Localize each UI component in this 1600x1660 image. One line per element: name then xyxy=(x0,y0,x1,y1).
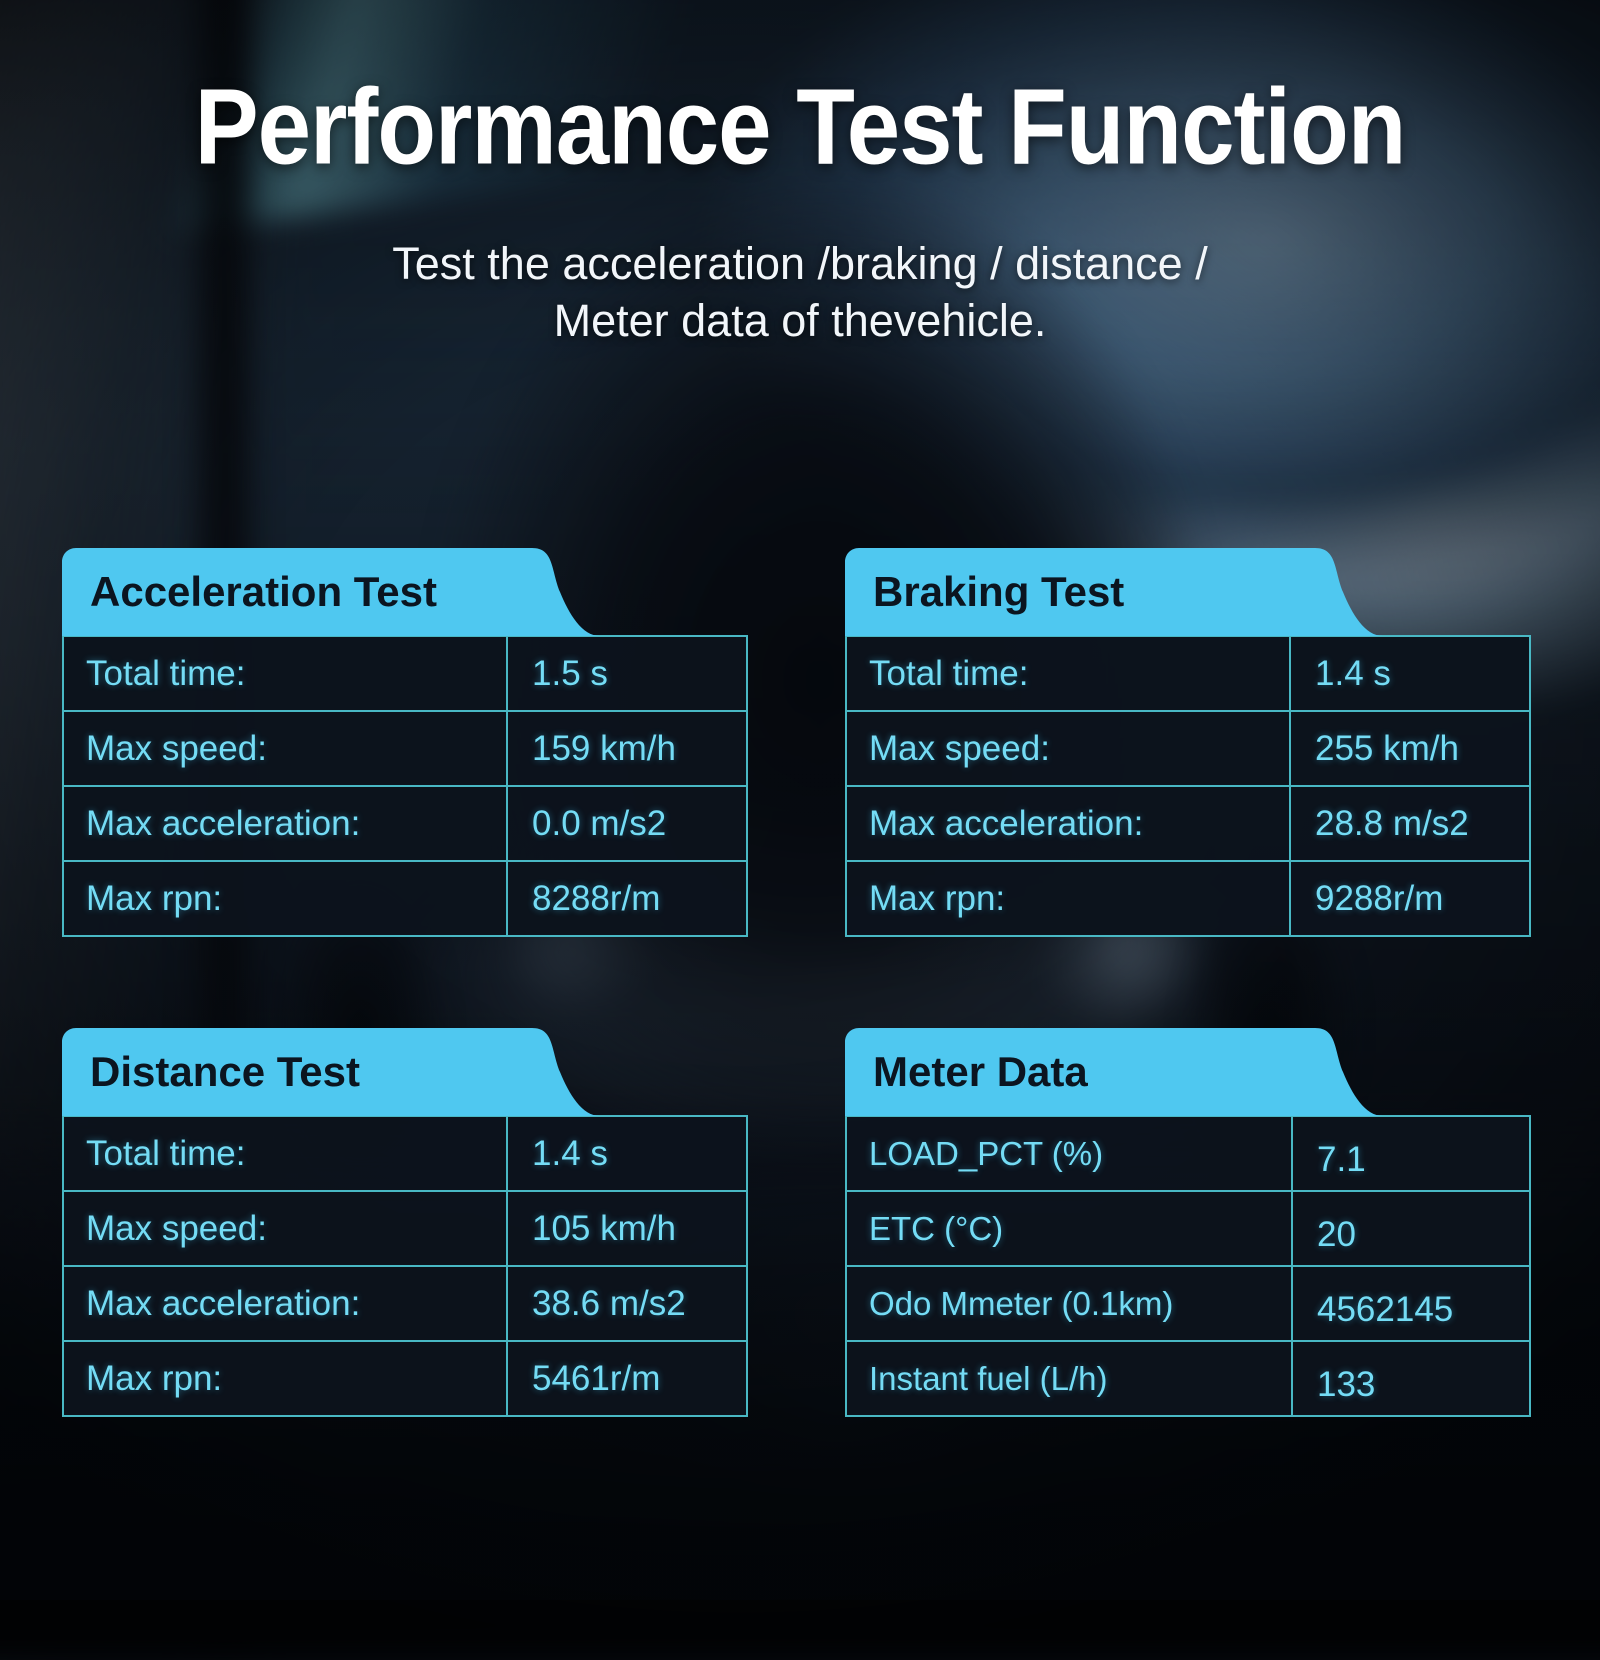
table-row: Max acceleration: 28.8 m/s2 xyxy=(846,786,1530,861)
row-value: 105 km/h xyxy=(507,1191,747,1266)
card-header-acceleration: Acceleration Test xyxy=(62,548,615,636)
row-label: Max rpn: xyxy=(63,1341,507,1416)
row-label: Instant fuel (L/h) xyxy=(846,1341,1292,1416)
table-acceleration: Total time: 1.5 s Max speed: 159 km/h Ma… xyxy=(62,635,748,937)
row-label: Max acceleration: xyxy=(63,786,507,861)
card-braking-test: Braking Test Total time: 1.4 s Max speed… xyxy=(845,548,1531,937)
row-value: 1.4 s xyxy=(1290,636,1530,711)
table-row: Max speed: 105 km/h xyxy=(63,1191,747,1266)
page-subtitle: Test the acceleration /braking / distanc… xyxy=(0,236,1600,349)
table-row: Total time: 1.5 s xyxy=(63,636,747,711)
table-row: Max rpn: 9288r/m xyxy=(846,861,1530,936)
row-label: Max speed: xyxy=(63,711,507,786)
row-label: Max acceleration: xyxy=(63,1266,507,1341)
row-value: 0.0 m/s2 xyxy=(507,786,747,861)
row-value: 7.1 xyxy=(1292,1116,1530,1191)
row-label: LOAD_PCT (%) xyxy=(846,1116,1292,1191)
card-acceleration-test: Acceleration Test Total time: 1.5 s Max … xyxy=(62,548,748,937)
row-value: 1.5 s xyxy=(507,636,747,711)
card-title-acceleration: Acceleration Test xyxy=(90,568,437,616)
card-distance-test: Distance Test Total time: 1.4 s Max spee… xyxy=(62,1028,748,1417)
row-value: 38.6 m/s2 xyxy=(507,1266,747,1341)
row-label: Max rpn: xyxy=(63,861,507,936)
row-label: Odo Mmeter (0.1km) xyxy=(846,1266,1292,1341)
table-row: Total time: 1.4 s xyxy=(63,1116,747,1191)
content-root: Performance Test Function Test the accel… xyxy=(0,0,1600,1600)
card-title-distance: Distance Test xyxy=(90,1048,360,1096)
table-row: LOAD_PCT (%) 7.1 xyxy=(846,1116,1530,1191)
row-label: Max acceleration: xyxy=(846,786,1290,861)
row-value: 4562145 xyxy=(1292,1266,1530,1341)
card-meter-data: Meter Data LOAD_PCT (%) 7.1 ETC (°C) 20 … xyxy=(845,1028,1531,1417)
card-header-meter: Meter Data xyxy=(845,1028,1398,1116)
row-value: 133 xyxy=(1292,1341,1530,1416)
row-label: Total time: xyxy=(63,1116,507,1191)
table-row: Odo Mmeter (0.1km) 4562145 xyxy=(846,1266,1530,1341)
table-row: Max rpn: 8288r/m xyxy=(63,861,747,936)
table-row: Max acceleration: 38.6 m/s2 xyxy=(63,1266,747,1341)
row-value: 28.8 m/s2 xyxy=(1290,786,1530,861)
card-title-braking: Braking Test xyxy=(873,568,1124,616)
table-row: Max speed: 159 km/h xyxy=(63,711,747,786)
row-label: Total time: xyxy=(846,636,1290,711)
card-header-distance: Distance Test xyxy=(62,1028,615,1116)
row-value: 9288r/m xyxy=(1290,861,1530,936)
table-braking: Total time: 1.4 s Max speed: 255 km/h Ma… xyxy=(845,635,1531,937)
row-value: 255 km/h xyxy=(1290,711,1530,786)
table-row: Instant fuel (L/h) 133 xyxy=(846,1341,1530,1416)
table-meter: LOAD_PCT (%) 7.1 ETC (°C) 20 Odo Mmeter … xyxy=(845,1115,1531,1417)
row-label: ETC (°C) xyxy=(846,1191,1292,1266)
row-label: Max speed: xyxy=(63,1191,507,1266)
row-value: 159 km/h xyxy=(507,711,747,786)
page-title: Performance Test Function xyxy=(0,74,1600,182)
row-label: Max speed: xyxy=(846,711,1290,786)
row-value: 1.4 s xyxy=(507,1116,747,1191)
table-row: Total time: 1.4 s xyxy=(846,636,1530,711)
card-header-braking: Braking Test xyxy=(845,548,1398,636)
row-value: 5461r/m xyxy=(507,1341,747,1416)
card-title-meter: Meter Data xyxy=(873,1048,1088,1096)
row-label: Max rpn: xyxy=(846,861,1290,936)
table-row: Max rpn: 5461r/m xyxy=(63,1341,747,1416)
table-row: Max acceleration: 0.0 m/s2 xyxy=(63,786,747,861)
row-value: 20 xyxy=(1292,1191,1530,1266)
table-distance: Total time: 1.4 s Max speed: 105 km/h Ma… xyxy=(62,1115,748,1417)
table-row: ETC (°C) 20 xyxy=(846,1191,1530,1266)
table-row: Max speed: 255 km/h xyxy=(846,711,1530,786)
row-label: Total time: xyxy=(63,636,507,711)
row-value: 8288r/m xyxy=(507,861,747,936)
